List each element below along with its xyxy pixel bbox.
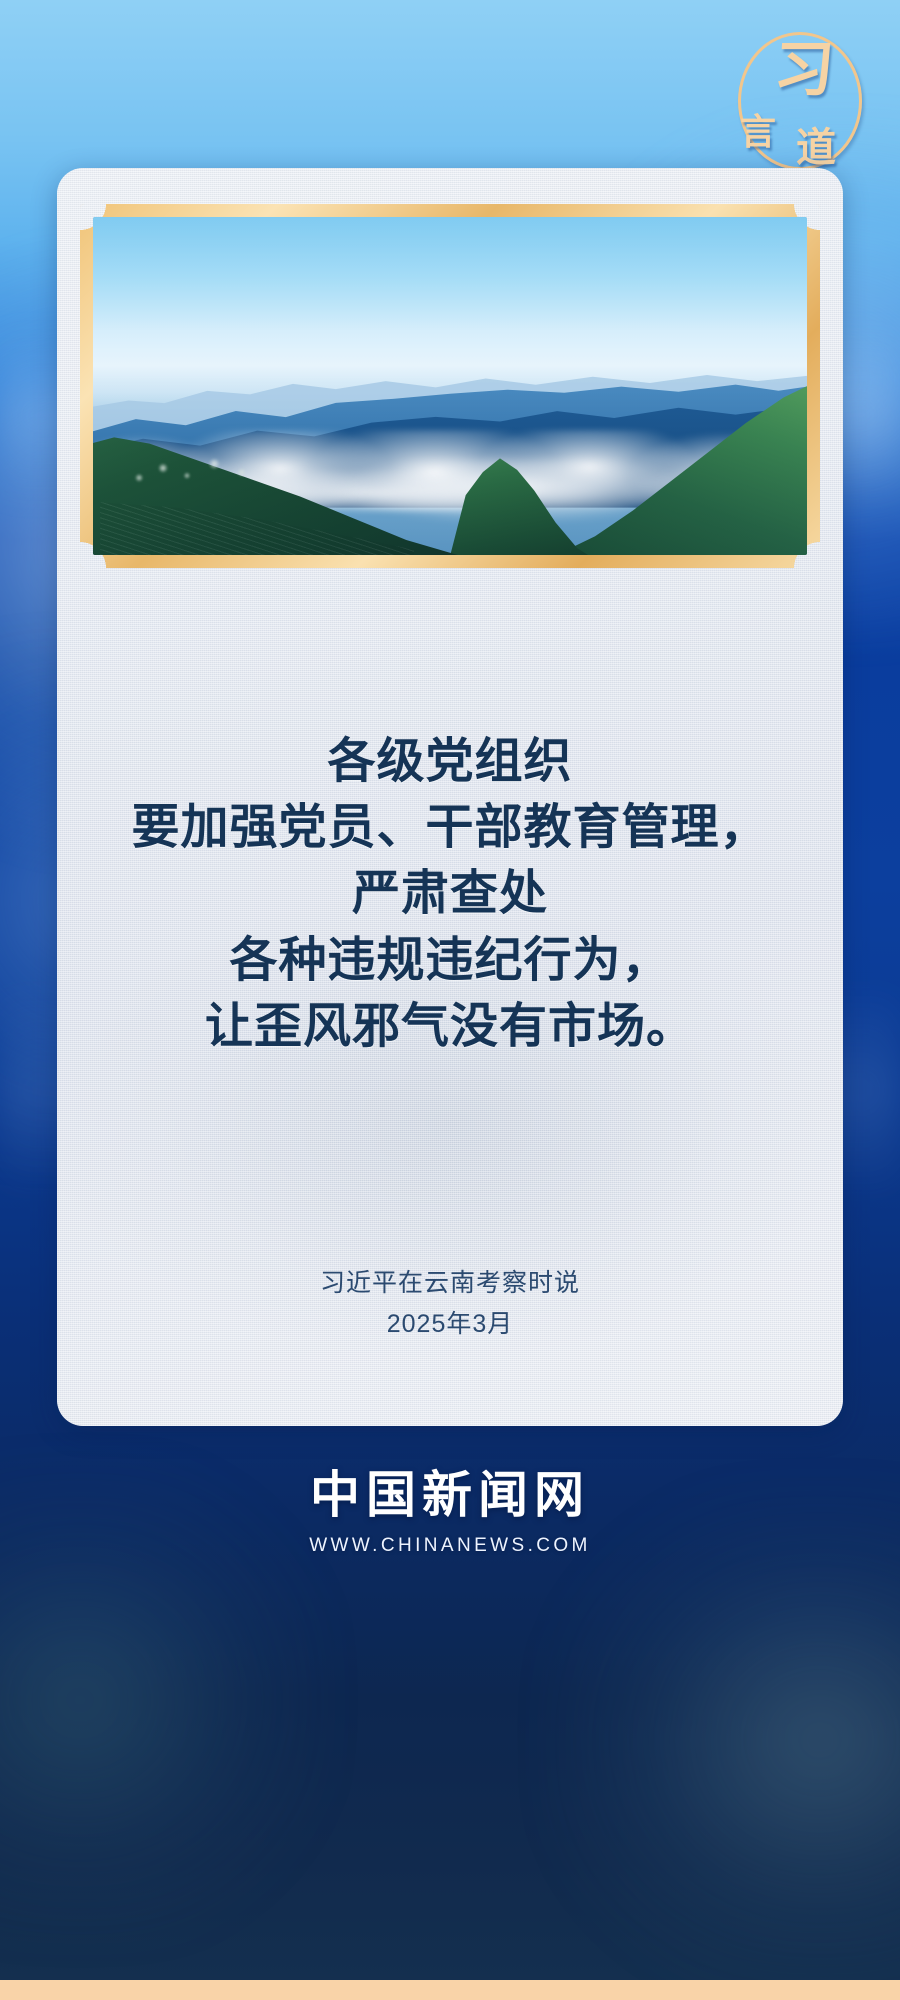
photo-frame-inner bbox=[93, 217, 807, 555]
quote-line-5: 让歪风邪气没有市场。 bbox=[57, 993, 843, 1059]
photo-atmospheric-haze bbox=[93, 217, 807, 555]
quote-attribution: 习近平在云南考察时说 2025年3月 bbox=[57, 1263, 843, 1344]
chinanews-url: WWW.CHINANEWS.COM bbox=[0, 1535, 900, 1557]
attribution-source: 习近平在云南考察时说 bbox=[57, 1263, 843, 1304]
quote-line-4: 各种违规违纪行为， bbox=[57, 927, 843, 993]
seal-char-yan: 言 bbox=[740, 114, 776, 150]
quote-line-1: 各级党组织 bbox=[57, 728, 843, 794]
seal-char-xi: 习 bbox=[772, 40, 836, 100]
chinanews-wordmark: 中国新闻网 bbox=[0, 1455, 900, 1527]
attribution-date: 2025年3月 bbox=[57, 1304, 843, 1345]
brand-seal-logo: 习 言 道 bbox=[722, 26, 878, 176]
quote-line-3: 严肃查处 bbox=[57, 860, 843, 926]
seal-char-dao: 道 bbox=[796, 128, 836, 168]
quote-block: 各级党组织 要加强党员、干部教育管理， 严肃查处 各种违规违纪行为， 让歪风邪气… bbox=[57, 728, 843, 1059]
bottom-accent-strip bbox=[0, 1980, 900, 2000]
poster-root: 习 言 道 bbox=[0, 0, 900, 2000]
footer-branding: 中国新闻网 WWW.CHINANEWS.COM bbox=[0, 1455, 900, 1557]
background-glow-bottom-right bbox=[560, 1500, 900, 1980]
content-card: 各级党组织 要加强党员、干部教育管理， 严肃查处 各种违规违纪行为， 让歪风邪气… bbox=[57, 168, 843, 1426]
quote-line-2: 要加强党员、干部教育管理， bbox=[57, 794, 843, 860]
seal-characters: 习 言 道 bbox=[722, 26, 878, 176]
landscape-photo bbox=[93, 217, 807, 555]
photo-frame bbox=[80, 204, 820, 568]
